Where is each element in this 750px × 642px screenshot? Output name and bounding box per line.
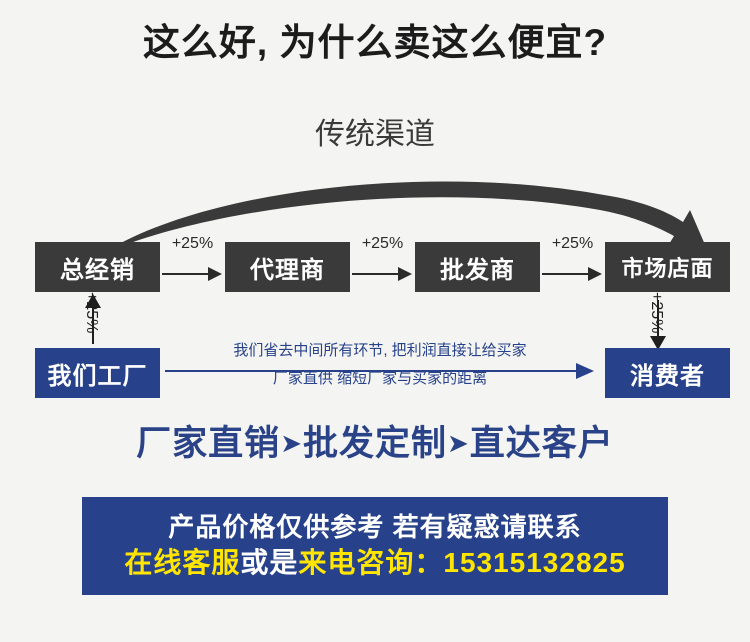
slogan: 厂家直销➤批发定制➤直达客户 — [0, 426, 750, 461]
markup-percent-2: +25% — [350, 236, 415, 252]
markup-percent-left: +25% — [83, 292, 99, 333]
flow-box-label: 市场店面 — [621, 251, 713, 283]
flow-box-label: 我们工厂 — [48, 356, 148, 391]
page-title: 这么好, 为什么卖这么便宜? — [0, 24, 750, 61]
arrow-head-icon — [398, 267, 412, 281]
markup-percent-right: +25% — [648, 292, 664, 333]
flow-box-market-store[interactable]: 市场店面 — [605, 242, 730, 292]
flow-box-label: 总经销 — [60, 250, 135, 285]
connector-2: +25% — [350, 242, 415, 292]
direct-supply-message: 我们省去中间所有环节, 把利润直接让给买家 厂家直供 缩短厂家与买家的距离 — [170, 341, 590, 399]
flow-box-our-factory[interactable]: 我们工厂 — [35, 348, 160, 398]
markup-percent-1: +25% — [160, 236, 225, 252]
flow-box-wholesaler[interactable]: 批发商 — [415, 242, 540, 292]
vertical-arrow-down: +25% — [648, 294, 688, 350]
poster-root: 这么好, 为什么卖这么便宜? 传统渠道 总经销 代理商 批发商 市场店面 +25… — [0, 0, 750, 642]
direct-supply-line1: 我们省去中间所有环节, 把利润直接让给买家 — [170, 341, 590, 361]
banner-line-2: 在线客服或是来电咨询：15315132825 — [124, 548, 625, 579]
or-label: 或是 — [240, 547, 298, 578]
phone-number[interactable]: 15315132825 — [443, 547, 625, 578]
contact-banner: 产品价格仅供参考 若有疑惑请联系 在线客服或是来电咨询：15315132825 — [82, 497, 668, 595]
arrow-line-icon — [162, 273, 212, 275]
online-service-label[interactable]: 在线客服 — [124, 547, 240, 578]
flow-box-consumer[interactable]: 消费者 — [605, 348, 730, 398]
arrow-line-icon — [542, 273, 592, 275]
triangle-right-icon-2: ➤ — [447, 428, 470, 458]
slogan-part-3: 直达客户 — [470, 424, 614, 463]
triangle-right-icon-1: ➤ — [280, 428, 303, 458]
arrow-head-icon — [208, 267, 222, 281]
vertical-arrow-up: +25% — [83, 294, 123, 350]
flow-box-label: 批发商 — [440, 250, 515, 285]
call-inquiry-label: 来电咨询： — [298, 547, 443, 578]
connector-3: +25% — [540, 242, 605, 292]
slogan-part-1: 厂家直销 — [136, 424, 280, 463]
flow-box-general-distributor[interactable]: 总经销 — [35, 242, 160, 292]
flow-box-label: 消费者 — [630, 356, 705, 391]
connector-1: +25% — [160, 242, 225, 292]
arrow-head-icon — [588, 267, 602, 281]
banner-line-1: 产品价格仅供参考 若有疑惑请联系 — [168, 513, 581, 542]
flow-box-agent[interactable]: 代理商 — [225, 242, 350, 292]
slogan-part-2: 批发定制 — [303, 424, 447, 463]
traditional-channel-label: 传统渠道 — [0, 120, 750, 150]
arrow-line-icon — [352, 273, 402, 275]
flow-box-label: 代理商 — [250, 250, 325, 285]
markup-percent-3: +25% — [540, 236, 605, 252]
direct-supply-line2: 厂家直供 缩短厂家与买家的距离 — [170, 369, 590, 389]
